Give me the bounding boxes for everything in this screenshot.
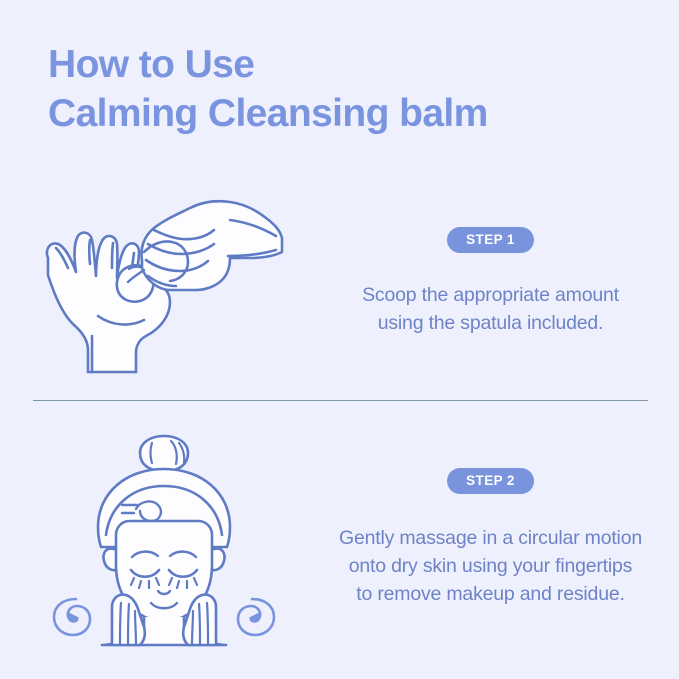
title-line-2: Calming Cleansing balm — [48, 89, 648, 138]
step-1-description: Scoop the appropriate amount using the s… — [362, 281, 619, 337]
hands-scooping-balm-illustration — [30, 190, 300, 375]
step-2-badge: STEP 2 — [447, 468, 534, 495]
step-1-text-cell: STEP 1 Scoop the appropriate amount usin… — [330, 178, 679, 386]
face-massage-illustration — [40, 431, 290, 646]
step-1-badge: STEP 1 — [447, 227, 534, 254]
step-2-illustration-cell — [0, 424, 330, 652]
step-1-line-1: Scoop the appropriate amount — [362, 281, 619, 309]
step-2-section: STEP 2 Gently massage in a circular moti… — [0, 424, 679, 652]
step-1-section: STEP 1 Scoop the appropriate amount usin… — [0, 178, 679, 386]
how-to-use-infographic: How to Use Calming Cleansing balm — [0, 0, 679, 679]
title-line-1: How to Use — [48, 40, 648, 89]
step-2-text-cell: STEP 2 Gently massage in a circular moti… — [330, 424, 679, 652]
step-2-line-1: Gently massage in a circular motion — [339, 524, 642, 552]
step-2-line-3: to remove makeup and residue. — [339, 580, 642, 608]
step-1-illustration-cell — [0, 178, 330, 386]
section-divider — [33, 400, 648, 401]
step-2-line-2: onto dry skin using your fingertips — [339, 552, 642, 580]
step-1-line-2: using the spatula included. — [362, 309, 619, 337]
page-title: How to Use Calming Cleansing balm — [48, 40, 648, 138]
step-2-description: Gently massage in a circular motion onto… — [339, 524, 642, 608]
